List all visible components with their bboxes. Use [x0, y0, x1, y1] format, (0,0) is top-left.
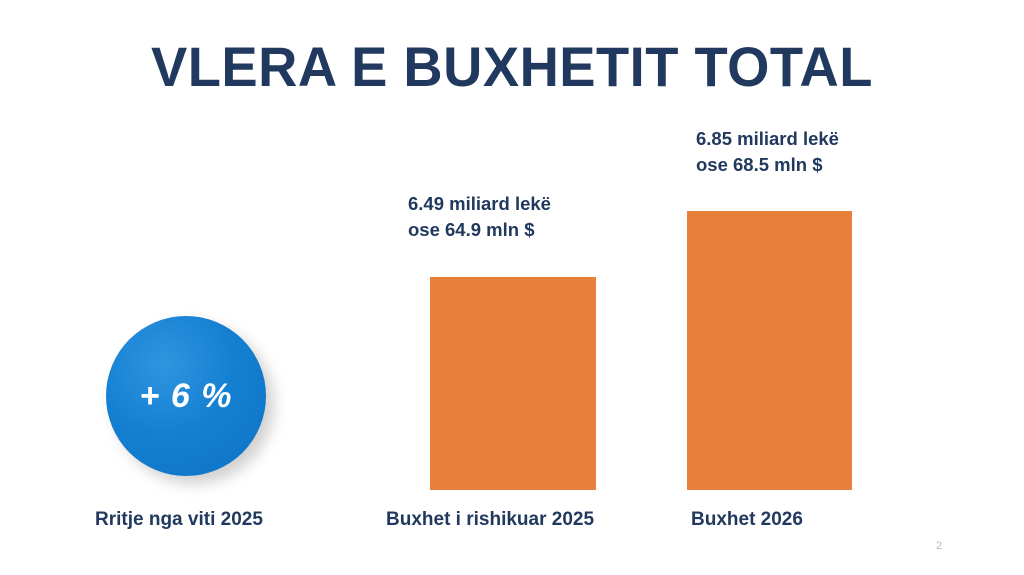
growth-badge: + 6 % — [106, 316, 278, 488]
slide: VLERA E BUXHETIT TOTAL + 6 % 6.49 miliar… — [0, 0, 1024, 575]
bar-value-label-2026: 6.85 miliard lekë ose 68.5 mln $ — [696, 126, 839, 179]
bar-value-label-revised-2025-line1: 6.49 miliard lekë — [408, 191, 551, 217]
bar-revised-2025 — [430, 277, 596, 490]
bar-2026 — [687, 211, 852, 490]
bar-value-label-2026-line2: ose 68.5 mln $ — [696, 152, 839, 178]
bar-value-label-revised-2025-line2: ose 64.9 mln $ — [408, 217, 551, 243]
page-title: VLERA E BUXHETIT TOTAL — [15, 36, 1008, 98]
bar-value-label-2026-line1: 6.85 miliard lekë — [696, 126, 839, 152]
bar-value-label-revised-2025: 6.49 miliard lekë ose 64.9 mln $ — [408, 191, 551, 244]
page-number: 2 — [936, 540, 942, 552]
badge-circle: + 6 % — [106, 316, 266, 476]
bar-category-label-revised-2025: Buxhet i rishikuar 2025 — [386, 509, 594, 531]
badge-caption: Rritje nga viti 2025 — [95, 509, 263, 531]
badge-value: + 6 % — [140, 377, 233, 416]
bar-category-label-2026: Buxhet 2026 — [691, 509, 803, 531]
